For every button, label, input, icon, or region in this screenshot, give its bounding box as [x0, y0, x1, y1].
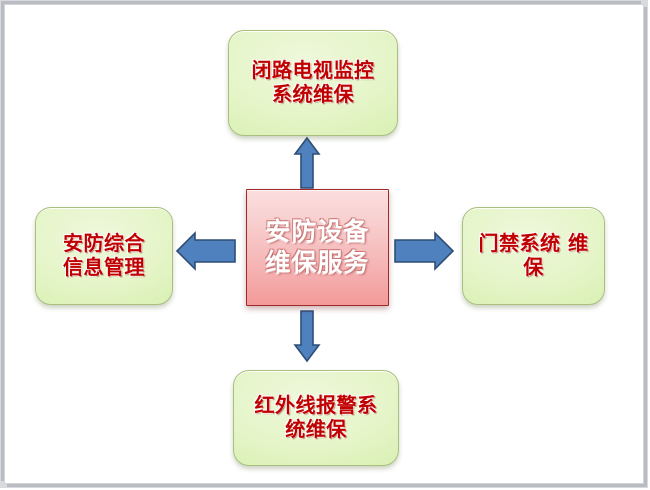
node-label: 安防综合 信息管理: [63, 232, 145, 279]
node-cctv-maintenance[interactable]: 闭路电视监控 系统维保: [228, 30, 398, 136]
diagram-canvas: 闭路电视监控 系统维保 安防综合 信息管理 门禁系统 维 保 红外线报警系 统维…: [0, 0, 650, 490]
node-central-security-maintenance-service[interactable]: 安防设备 维保服务: [246, 189, 389, 306]
arrow-center-to-bottom: [294, 310, 320, 362]
node-label: 门禁系统 维 保: [479, 232, 589, 279]
arrow-center-to-left: [176, 232, 236, 270]
node-infrared-alarm-maintenance[interactable]: 红外线报警系 统维保: [233, 370, 399, 466]
node-label: 红外线报警系 统维保: [255, 394, 378, 441]
node-label: 闭路电视监控 系统维保: [252, 59, 375, 106]
node-access-control-maintenance[interactable]: 门禁系统 维 保: [462, 207, 605, 305]
node-security-info-management[interactable]: 安防综合 信息管理: [35, 207, 173, 305]
arrow-center-to-right: [394, 232, 454, 270]
node-label: 安防设备 维保服务: [265, 217, 369, 278]
arrow-center-to-top: [294, 137, 320, 189]
